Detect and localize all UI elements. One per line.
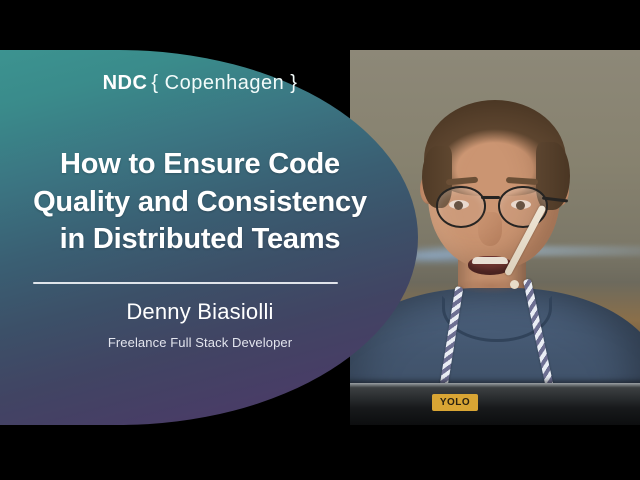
title-divider-rule [33, 282, 338, 284]
letterbox-bar-top [0, 0, 640, 50]
nose [478, 212, 502, 246]
talk-title-line-2: Quality and Consistency [14, 184, 386, 222]
eyeglasses-bridge [481, 196, 500, 199]
video-frame: YOLO NDC{ Copenhagen } How to Ensure Cod… [0, 0, 640, 480]
slide-text-block: NDC{ Copenhagen } How to Ensure Code Qua… [0, 50, 400, 425]
conference-logo-city: { Copenhagen } [151, 72, 297, 94]
talk-title: How to Ensure Code Quality and Consisten… [14, 146, 386, 259]
speaker-name: Denny Biasiolli [0, 299, 400, 325]
talk-title-line-1: How to Ensure Code [14, 146, 386, 184]
teeth [472, 257, 508, 264]
letterbox-bar-bottom [0, 425, 640, 480]
speaker-role: Freelance Full Stack Developer [0, 335, 400, 350]
conference-slide: YOLO NDC{ Copenhagen } How to Ensure Cod… [0, 50, 640, 425]
conference-logo: NDC{ Copenhagen } [0, 72, 400, 95]
conference-logo-mark: NDC [103, 72, 148, 94]
headset-microphone-tip [510, 280, 519, 289]
laptop-sticker: YOLO [432, 394, 478, 411]
talk-title-line-3: in Distributed Teams [14, 221, 386, 259]
